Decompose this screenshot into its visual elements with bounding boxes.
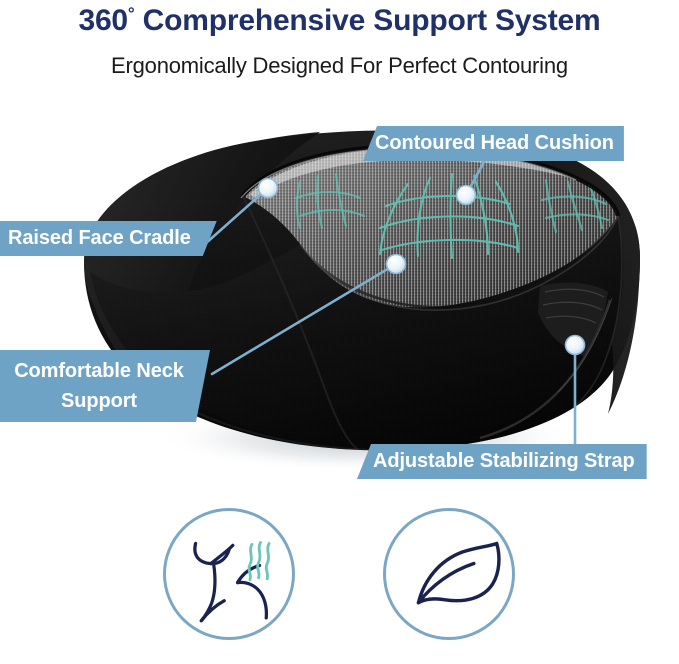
leader-lines xyxy=(205,162,575,444)
callout-label-contoured-head-cushion: Contoured Head Cushion xyxy=(363,126,624,161)
neck-posture-icon xyxy=(166,511,292,637)
leaf-icon xyxy=(386,511,512,637)
product-illustration xyxy=(0,0,679,664)
feature-badge-ergonomic-neck-comfort xyxy=(163,508,295,640)
dot-head-cushion xyxy=(457,186,476,205)
degree-symbol: ° xyxy=(128,4,135,23)
leader-neck-support xyxy=(212,264,396,374)
page-subtitle: Ergonomically Designed For Perfect Conto… xyxy=(0,53,679,79)
title-remainder: Comprehensive Support System xyxy=(143,4,601,37)
feature-badge-breathable-natural-material xyxy=(383,508,515,640)
callout-label-comfortable-neck-support: Comfortable Neck Support xyxy=(0,350,210,422)
callout-label-line-2: Support xyxy=(6,386,192,416)
title-text xyxy=(135,4,143,37)
leader-face-cradle xyxy=(205,188,268,244)
callout-dots xyxy=(259,179,585,355)
callout-label-line-1: Comfortable Neck xyxy=(6,356,192,386)
teal-contour-lines xyxy=(296,174,608,258)
page-title: 360° Comprehensive Support System xyxy=(0,4,679,38)
callout-label-raised-face-cradle: Raised Face Cradle xyxy=(0,221,217,256)
dot-stabilizing-strap xyxy=(566,336,585,355)
dot-neck-support xyxy=(387,255,406,274)
product-infographic: 360° Comprehensive Support System Ergono… xyxy=(0,0,679,664)
mesh-interior xyxy=(230,140,630,320)
leader-head-cushion xyxy=(466,162,484,195)
title-number: 360 xyxy=(78,4,127,37)
dot-face-cradle xyxy=(259,179,278,198)
callout-label-adjustable-stabilizing-strap: Adjustable Stabilizing Strap xyxy=(357,444,647,479)
